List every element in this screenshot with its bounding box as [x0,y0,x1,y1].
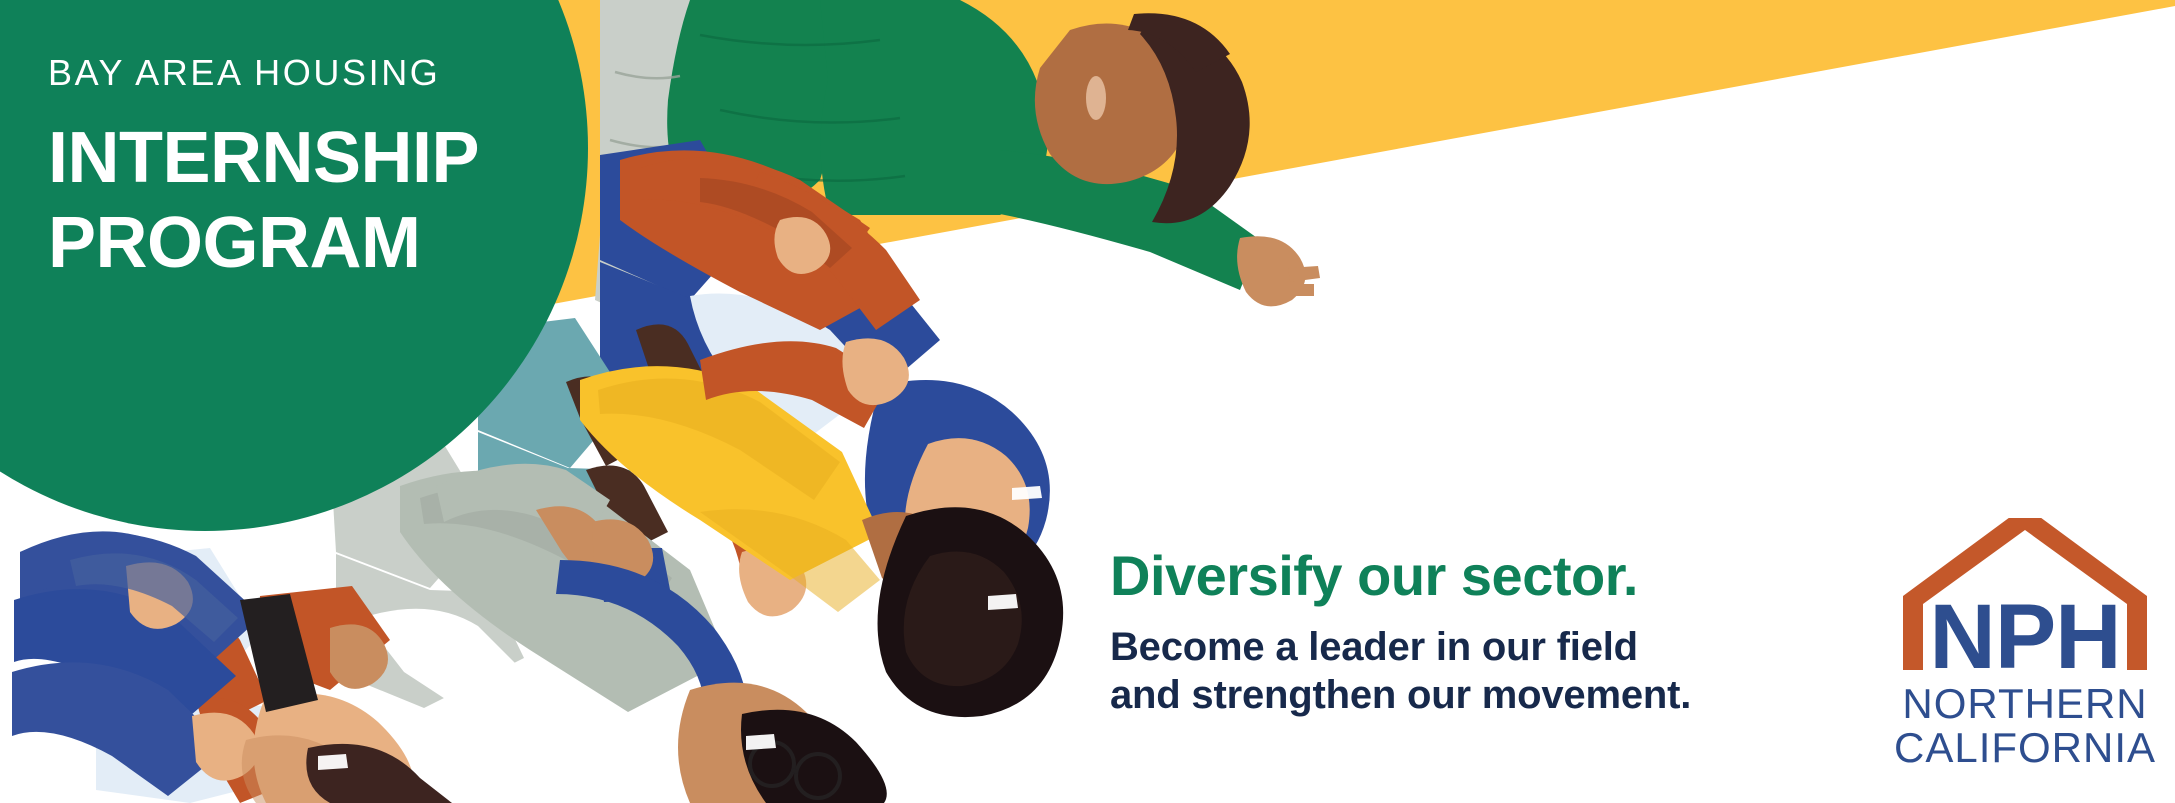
tagline-secondary: Become a leader in our field and strengt… [1110,623,1691,719]
tagline-block: Diversify our sector. Become a leader in… [1110,545,1691,719]
banner-illustration [0,0,2175,803]
svg-text:CALIFORNIA: CALIFORNIA [1895,724,2155,771]
tagline-primary: Diversify our sector. [1110,545,1691,607]
nph-logo: NPH NORTHERN CALIFORNIA [1895,518,2155,773]
logo-acronym: NPH [1929,586,2120,688]
internship-program-banner: BAY AREA HOUSING INTERNSHIP PROGRAM Dive… [0,0,2175,803]
logo-line2: CALIFORNIA [1895,724,2155,771]
svg-text:NORTHERN: NORTHERN [1902,680,2147,727]
logo-line1: NORTHERN [1902,680,2147,727]
tagline-secondary-line1: Become a leader in our field [1110,623,1691,671]
svg-text:NPH: NPH [1929,586,2120,688]
tagline-secondary-line2: and strengthen our movement. [1110,671,1691,719]
